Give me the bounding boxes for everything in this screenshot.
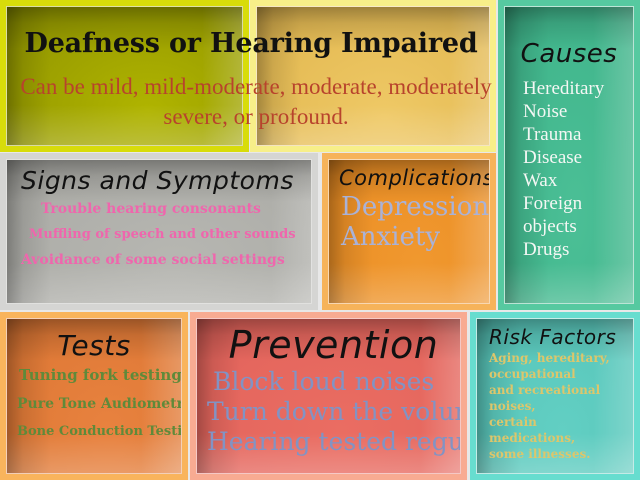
prevention-line: Hearing tested regularly <box>207 427 452 457</box>
list-item: objects <box>523 215 625 238</box>
panel-prevention: Prevention Block loud noises Turn down t… <box>190 312 467 480</box>
panel-causes-content: Causes Hereditary Noise Trauma Disease W… <box>505 7 633 265</box>
panel-prevention-inner: Prevention Block loud noises Turn down t… <box>196 318 461 474</box>
tests-line: Pure Tone Audiometry <box>17 396 173 412</box>
list-item: Trauma <box>523 123 625 146</box>
risk-factors-heading: Risk Factors <box>489 325 625 349</box>
panel-causes: Causes Hereditary Noise Trauma Disease W… <box>498 0 640 310</box>
prevention-heading: Prevention <box>215 323 452 367</box>
list-item: Noise <box>523 100 625 123</box>
list-item: Disease <box>523 146 625 169</box>
prevention-line: Block loud noises <box>213 367 452 397</box>
signs-line: Trouble hearing consonants <box>41 201 303 217</box>
list-item: Foreign <box>523 192 625 215</box>
complications-line: Anxiety <box>341 222 481 252</box>
list-item: Wax <box>523 169 625 192</box>
panel-signs-and-symptoms: Signs and Symptoms Trouble hearing conso… <box>0 153 318 310</box>
panel-signs-inner: Signs and Symptoms Trouble hearing conso… <box>6 159 312 304</box>
panel-risk-factors-inner: Risk Factors Aging, hereditary, occupati… <box>476 318 634 474</box>
list-item: Drugs <box>523 238 625 261</box>
page-subtitle: Can be mild, mild-moderate, moderate, mo… <box>16 72 496 132</box>
complications-heading: Complications <box>339 166 481 190</box>
panel-signs-content: Signs and Symptoms Trouble hearing conso… <box>7 160 311 272</box>
signs-line: Avoidance of some social settings <box>21 252 303 268</box>
complications-line: Depression <box>341 192 481 222</box>
causes-list: Hereditary Noise Trauma Disease Wax Fore… <box>513 77 625 261</box>
infographic-poster: Deafness or Hearing Impaired Can be mild… <box>0 0 640 480</box>
tests-heading: Tests <box>15 329 173 362</box>
panel-risk-factors-content: Risk Factors Aging, hereditary, occupati… <box>477 319 633 466</box>
page-title: Deafness or Hearing Impaired <box>16 28 486 59</box>
causes-heading: Causes <box>513 39 625 69</box>
panel-tests-inner: Tests Tuning fork testing Pure Tone Audi… <box>6 318 182 474</box>
prevention-line: Turn down the volume <box>207 397 452 427</box>
panel-causes-inner: Causes Hereditary Noise Trauma Disease W… <box>504 6 634 304</box>
list-item: Hereditary <box>523 77 625 100</box>
panel-prevention-content: Prevention Block loud noises Turn down t… <box>197 319 460 461</box>
signs-heading: Signs and Symptoms <box>21 166 303 195</box>
panel-complications-content: Complications Depression Anxiety <box>329 160 489 256</box>
tests-line: Bone Conduction Testing <box>17 424 173 439</box>
panel-risk-factors: Risk Factors Aging, hereditary, occupati… <box>470 312 640 480</box>
risk-factors-body: Aging, hereditary, occupational and recr… <box>489 350 625 462</box>
panel-tests-content: Tests Tuning fork testing Pure Tone Audi… <box>7 319 181 443</box>
panel-tests: Tests Tuning fork testing Pure Tone Audi… <box>0 312 188 480</box>
panel-complications-inner: Complications Depression Anxiety <box>328 159 490 304</box>
tests-line: Tuning fork testing <box>19 366 173 384</box>
signs-line: Muffling of speech and other sounds <box>29 227 303 242</box>
panel-complications: Complications Depression Anxiety <box>322 153 496 310</box>
